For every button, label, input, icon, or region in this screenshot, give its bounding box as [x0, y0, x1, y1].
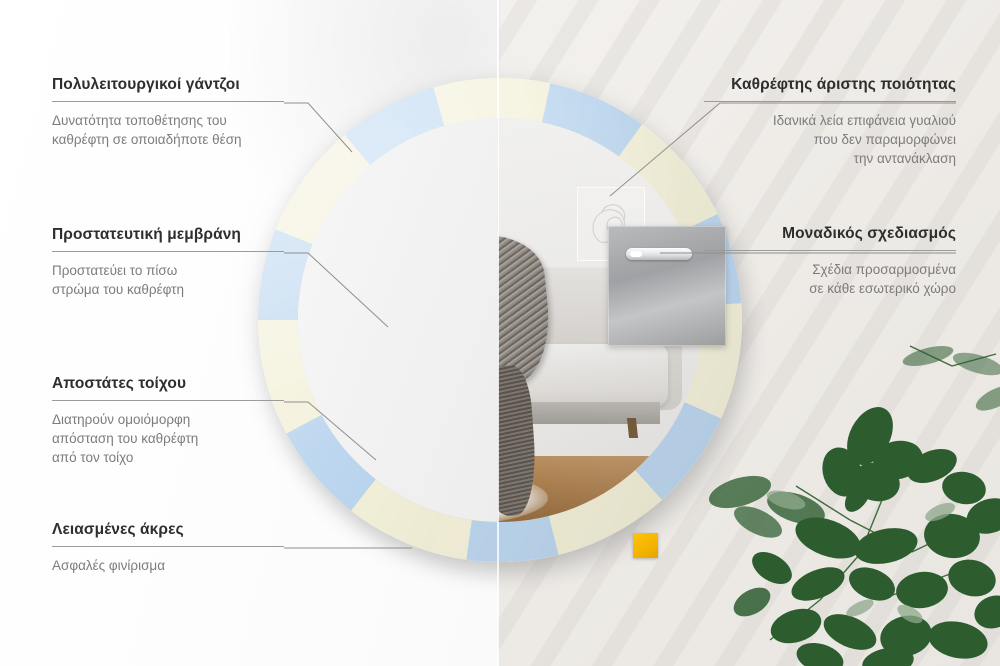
callout-body-line: σε κάθε εσωτερικό χώρο: [809, 281, 956, 296]
callout-body-line: Ασφαλές φινίρισμα: [52, 558, 165, 573]
callout-body-line: καθρέφτη σε οποιαδήποτε θέση: [52, 132, 242, 147]
hook-slot-icon: [626, 248, 692, 260]
callout-body-line: Ιδανικά λεία επιφάνεια γυαλιού: [773, 113, 956, 128]
mirror-glass-left-wash: [298, 118, 498, 522]
round-mirror: [258, 78, 742, 562]
callout-body-line: Διατηρούν ομοιόμορφη: [52, 412, 190, 427]
callout-body: Προστατεύει το πίσω στρώμα του καθρέφτη: [52, 261, 284, 299]
callout-body-line: από τον τοίχο: [52, 450, 133, 465]
callout-title: Μοναδικός σχεδιασμός: [704, 225, 956, 243]
foliage-decoration: [700, 340, 1000, 666]
callout-body-line: απόσταση του καθρέφτη: [52, 431, 198, 446]
callout-rule: [704, 101, 956, 102]
callout-rule: [52, 546, 284, 547]
callout-title: Λειασμένες άκρες: [52, 521, 284, 539]
callout-body-line: στρώμα του καθρέφτη: [52, 282, 184, 297]
callout-rule: [52, 251, 284, 252]
callout-body-line: που δεν παραμορφώνει: [814, 132, 956, 147]
leaves-illustration-icon: [700, 340, 1000, 666]
callout-hooks: Πολυλειτουργικοί γάντζοι Δυνατότητα τοπο…: [52, 76, 284, 149]
callout-edges: Λειασμένες άκρες Ασφαλές φινίρισμα: [52, 521, 284, 575]
callout-quality: Καθρέφτης άριστης ποιότητας Ιδανικά λεία…: [704, 76, 956, 168]
wall-spacer-pad: [633, 533, 658, 558]
callout-spacers: Αποστάτες τοίχου Διατηρούν ομοιόμορφη απ…: [52, 375, 284, 467]
callout-title: Προστατευτική μεμβράνη: [52, 226, 284, 244]
callout-body: Ασφαλές φινίρισμα: [52, 556, 284, 575]
callout-title: Καθρέφτης άριστης ποιότητας: [704, 76, 956, 94]
callout-body: Δυνατότητα τοποθέτησης του καθρέφτη σε ο…: [52, 111, 284, 149]
callout-membrane: Προστατευτική μεμβράνη Προστατεύει το πί…: [52, 226, 284, 299]
callout-title: Πολυλειτουργικοί γάντζοι: [52, 76, 284, 94]
callout-title: Αποστάτες τοίχου: [52, 375, 284, 393]
callout-body-line: την αντανάκλαση: [854, 151, 956, 166]
callout-rule: [52, 400, 284, 401]
callout-body-line: Δυνατότητα τοποθέτησης του: [52, 113, 227, 128]
callout-body: Σχέδια προσαρμοσμένα σε κάθε εσωτερικό χ…: [704, 260, 956, 298]
callout-body-line: Σχέδια προσαρμοσμένα: [812, 262, 956, 277]
callout-design: Μοναδικός σχεδιασμός Σχέδια προσαρμοσμέν…: [704, 225, 956, 298]
callout-body: Ιδανικά λεία επιφάνεια γυαλιού που δεν π…: [704, 111, 956, 168]
callout-body: Διατηρούν ομοιόμορφη απόσταση του καθρέφ…: [52, 410, 284, 467]
callout-rule: [704, 250, 956, 251]
callout-rule: [52, 101, 284, 102]
product-infographic: Πολυλειτουργικοί γάντζοι Δυνατότητα τοπο…: [0, 0, 1000, 666]
callout-body-line: Προστατεύει το πίσω: [52, 263, 177, 278]
